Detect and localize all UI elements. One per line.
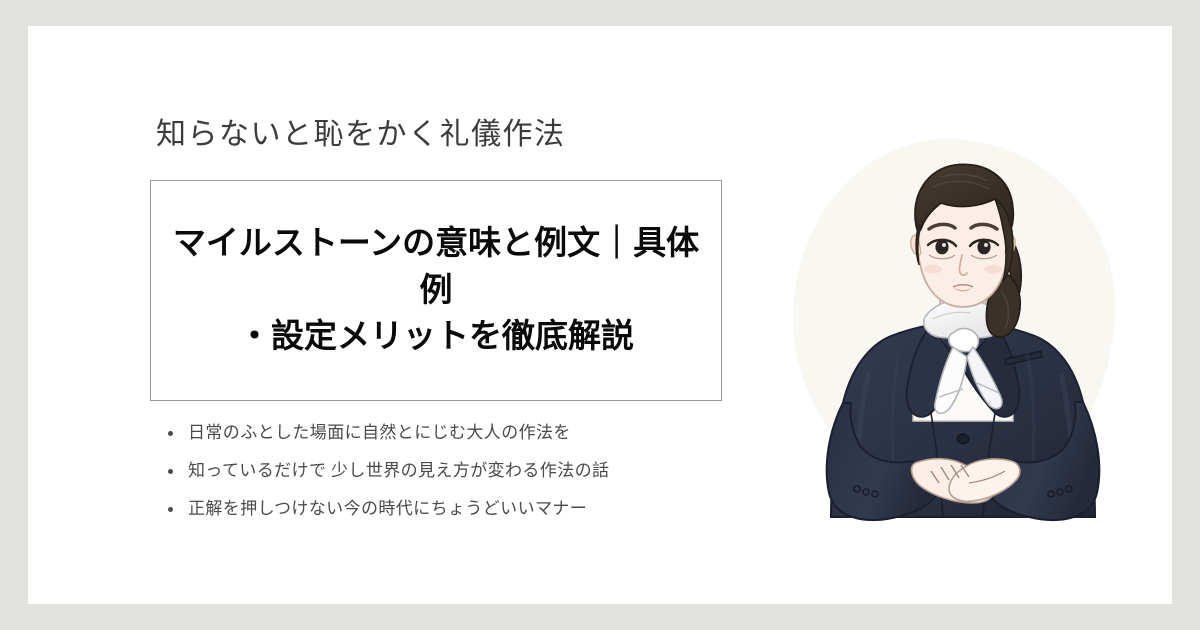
business-woman-figure-icon: [773, 121, 1153, 551]
list-item: 正解を押しつけない今の時代にちょうどいいマナー: [158, 499, 760, 519]
bullet-dot-icon: [168, 431, 173, 436]
bullet-dot-icon: [168, 507, 173, 512]
page-title: マイルストーンの意味と例文｜具体例・設定メリットを徹底解説: [165, 220, 707, 361]
business-woman-illustration: [773, 121, 1153, 551]
list-item-label: 知っているだけで 少し世界の見え方が変わる作法の話: [188, 461, 609, 480]
list-item: 知っているだけで 少し世界の見え方が変わる作法の話: [158, 461, 760, 481]
title-box: マイルストーンの意味と例文｜具体例・設定メリットを徹底解説: [150, 180, 722, 401]
list-item: 日常のふとした場面に自然とにじむ大人の作法を: [158, 423, 760, 443]
page-title-line-1: マイルストーンの意味と例文｜具体例: [173, 224, 699, 308]
page-title-line-2: ・設定メリットを徹底解説: [238, 317, 634, 354]
bullet-list: 日常のふとした場面に自然とにじむ大人の作法を 知っているだけで 少し世界の見え方…: [158, 423, 760, 520]
text-column: 知らないと恥をかく礼儀作法 マイルストーンの意味と例文｜具体例・設定メリットを徹…: [150, 116, 760, 538]
jacket-button: [957, 434, 969, 444]
eyebrow-heading: 知らないと恥をかく礼儀作法: [156, 116, 760, 154]
list-item-label: 正解を押しつけない今の時代にちょうどいいマナー: [188, 499, 587, 518]
slide-canvas: 知らないと恥をかく礼儀作法 マイルストーンの意味と例文｜具体例・設定メリットを徹…: [0, 0, 1200, 630]
bullet-dot-icon: [168, 469, 173, 474]
content-card: 知らないと恥をかく礼儀作法 マイルストーンの意味と例文｜具体例・設定メリットを徹…: [28, 26, 1172, 604]
list-item-label: 日常のふとした場面に自然とにじむ大人の作法を: [188, 423, 571, 442]
